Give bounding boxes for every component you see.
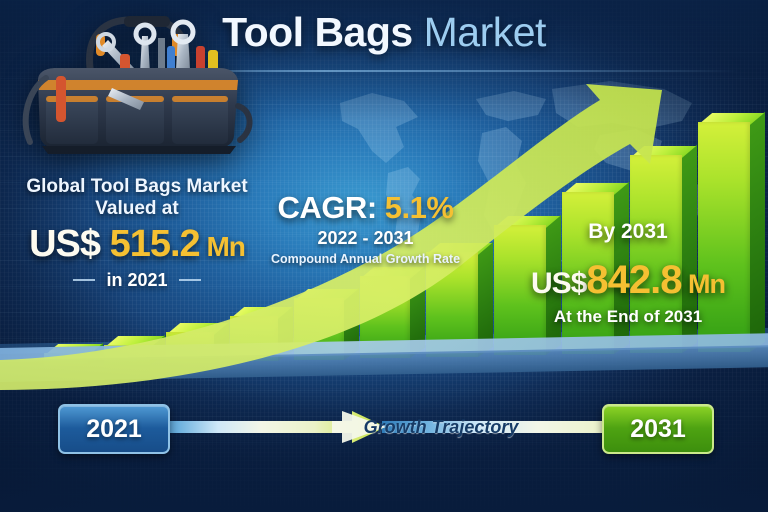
- cagr-value: 5.1%: [385, 190, 454, 225]
- left-amount: 515.2: [110, 223, 200, 265]
- cagr-block: CAGR: 5.1% 2022 - 2031 Compound Annual G…: [258, 192, 473, 266]
- start-year-badge[interactable]: 2021: [58, 404, 170, 454]
- left-year-label: in 2021: [106, 270, 167, 291]
- dash-left-icon: [73, 279, 95, 281]
- right-title: By 2031: [492, 220, 764, 244]
- right-value-block: By 2031 US$842.8 Mn At the End of 2031: [492, 220, 764, 327]
- end-year-badge[interactable]: 2031: [602, 404, 714, 454]
- left-headline-line2: Valued at: [6, 198, 268, 220]
- cagr-subtitle: Compound Annual Growth Rate: [258, 252, 473, 266]
- right-unit: Mn: [681, 269, 725, 299]
- infographic-canvas: Tool Bags Market: [0, 0, 768, 512]
- right-subtitle: At the End of 2031: [492, 307, 764, 327]
- left-year-row: in 2021: [6, 270, 268, 291]
- left-headline-line1: Global Tool Bags Market: [6, 176, 268, 198]
- cagr-headline: CAGR: 5.1%: [258, 192, 473, 223]
- growth-trajectory-bar: Growth Trajectory 2021 2031: [58, 404, 714, 450]
- left-value: US$ 515.2 Mn: [6, 225, 268, 263]
- dash-right-icon: [179, 279, 201, 281]
- right-amount: 842.8: [586, 258, 681, 302]
- left-unit: Mn: [200, 231, 245, 262]
- left-value-block: Global Tool Bags Market Valued at US$ 51…: [6, 176, 268, 291]
- right-value: US$842.8 Mn: [492, 260, 764, 300]
- left-currency: US$: [29, 223, 109, 265]
- cagr-range: 2022 - 2031: [258, 228, 473, 249]
- trajectory-label: Growth Trajectory: [326, 417, 556, 438]
- cagr-label: CAGR:: [278, 190, 385, 225]
- right-currency: US$: [531, 267, 586, 300]
